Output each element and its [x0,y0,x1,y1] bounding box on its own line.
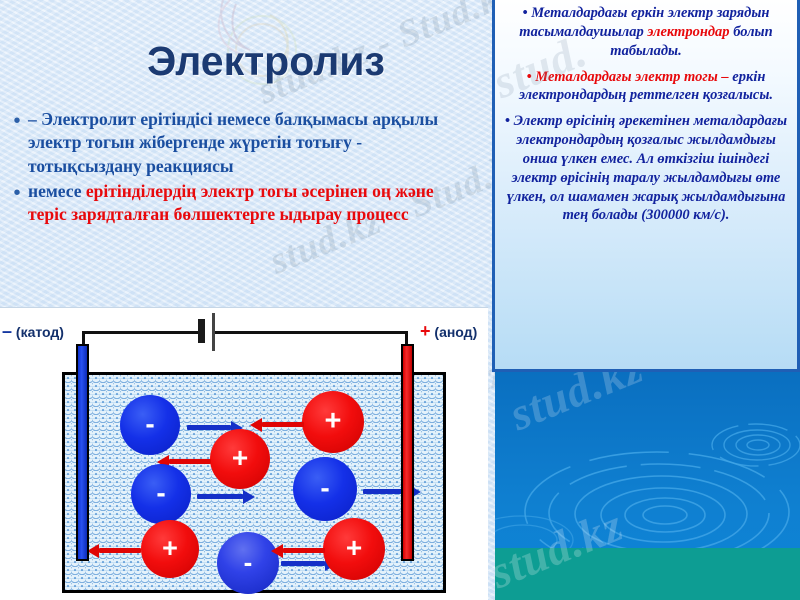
cathode-electrode [76,344,89,561]
anode-label-text: (анод) [434,324,477,340]
bullet-list: • – Электролит ерітіндісі немесе балқыма… [6,108,476,228]
circuit-wire-top-left [82,331,198,334]
electrolysis-diagram: – (катод) + (анод) - + + - [0,307,488,600]
right-text-panel: • Металдардағы еркін электр зарядын тасы… [492,0,800,372]
ion-charge-symbol: + [162,535,178,562]
list-item: • – Электролит ерітіндісі немесе балқыма… [6,108,476,178]
ion-charge-symbol: - [244,549,253,575]
circuit-wire-top-right [214,331,408,334]
plus-sign-icon: + [420,321,431,341]
bullet-2-blue-text: немесе [28,181,86,201]
ion-negative: - [293,457,357,521]
water-surface-band [495,548,800,600]
ion-charge-symbol: - [320,474,329,502]
anode-label: + (анод) [420,321,477,342]
page-title: Электролиз [96,40,436,83]
right-panel-paragraph-1: • Металдардағы еркін электр зарядын тасы… [499,4,793,61]
ion-negative: - [131,464,191,524]
ion-charge-symbol: + [346,534,362,562]
ion-charge-symbol: + [232,444,248,472]
electrolyte-tank: - + + - - + [62,372,446,593]
anode-electrode [401,344,414,561]
ion-charge-symbol: + [325,407,342,436]
bullet-item-2-text: немесе ерітінділердің электр тогы әсерін… [28,180,476,227]
bullet-marker: • [6,180,28,205]
ion-positive: + [302,391,364,453]
cathode-label: – (катод) [2,321,64,342]
cathode-label-text: (катод) [16,324,64,340]
ion-positive: + [323,518,385,580]
bullet-marker: • [6,108,28,133]
ion-negative: - [217,532,279,594]
minus-sign-icon: – [2,321,12,341]
rp-p2-highlight: • Металдардағы электр тогы – [527,69,729,85]
right-panel-paragraph-2: • Металдардағы электр тогы – еркін элект… [499,68,793,106]
water-image-panel: stud.kz stud.kz [495,372,800,600]
ion-charge-symbol: - [145,410,154,438]
right-panel-paragraph-3: • Электр өрісінің әрекетінен металдардағ… [499,112,793,225]
bullet-1-blue-text: – Электролит ерітіндісі немесе балқымасы… [28,109,438,176]
slide-canvas: stud.kz - Stud.kz stud.kz - Stud.kz stud… [0,0,800,600]
battery-long-plate-icon [212,313,215,351]
bullet-2-red-text: ерітінділердің электр тогы әсерінен оң ж… [28,181,434,224]
right-panel-body: • Металдардағы еркін электр зарядын тасы… [499,4,793,225]
ion-charge-symbol: - [156,479,165,507]
bullet-item-1-text: – Электролит ерітіндісі немесе балқымасы… [28,108,476,178]
rp-p1-highlight: электрондар [647,24,729,40]
ion-negative: - [120,395,180,455]
battery-short-plate-icon [198,319,205,343]
ion-positive: + [210,429,270,489]
list-item: • немесе ерітінділердің электр тогы әсер… [6,180,476,227]
ion-positive: + [141,520,199,578]
